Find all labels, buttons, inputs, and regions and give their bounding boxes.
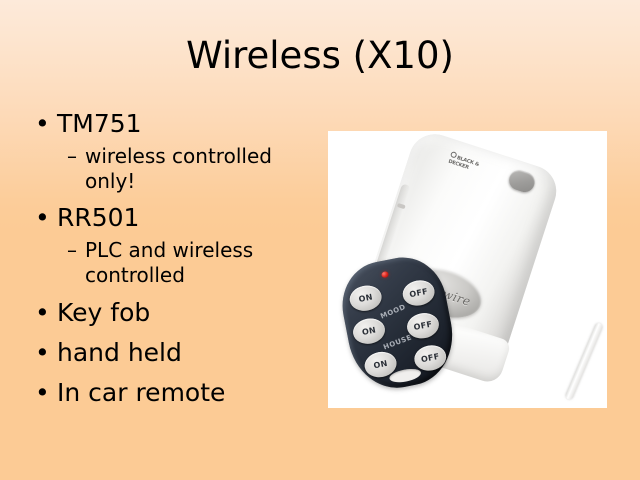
bullet-marker: • <box>35 336 50 369</box>
list-item-label: Key fob <box>57 298 150 327</box>
list-item: • In car remote <box>30 376 320 409</box>
list-item: • Key fob <box>30 296 320 329</box>
spacer <box>30 369 320 376</box>
bullet-marker: • <box>35 296 50 329</box>
list-item: – PLC and wireless controlled <box>30 238 320 288</box>
list-item: – wireless controlled only! <box>30 144 320 194</box>
product-photo: BLACK & DECKER freewire ON OFF MOOD ON O… <box>328 131 607 408</box>
slide-canvas: Wireless (X10) • TM751 – wireless contro… <box>0 0 640 480</box>
list-item-label: In car remote <box>57 378 225 407</box>
bullet-marker: • <box>35 107 50 140</box>
antenna-icon <box>564 322 603 401</box>
spacer <box>30 329 320 336</box>
bullet-marker: – <box>67 238 77 263</box>
page-title: Wireless (X10) <box>0 34 640 78</box>
list-item-label: hand held <box>57 338 182 367</box>
spacer <box>30 194 320 201</box>
spacer <box>30 288 320 296</box>
bullet-marker: – <box>67 144 77 169</box>
bullet-marker: • <box>35 376 50 409</box>
list-item: • RR501 <box>30 201 320 234</box>
bullet-marker: • <box>35 201 50 234</box>
list-item-label: wireless controlled only! <box>85 144 272 193</box>
list-item: • TM751 <box>30 107 320 140</box>
list-item-label: TM751 <box>57 109 142 138</box>
list-item-label: RR501 <box>57 203 139 232</box>
list-item-label: PLC and wireless controlled <box>85 238 253 287</box>
bullet-list: • TM751 – wireless controlled only! • RR… <box>30 107 320 409</box>
list-item: • hand held <box>30 336 320 369</box>
